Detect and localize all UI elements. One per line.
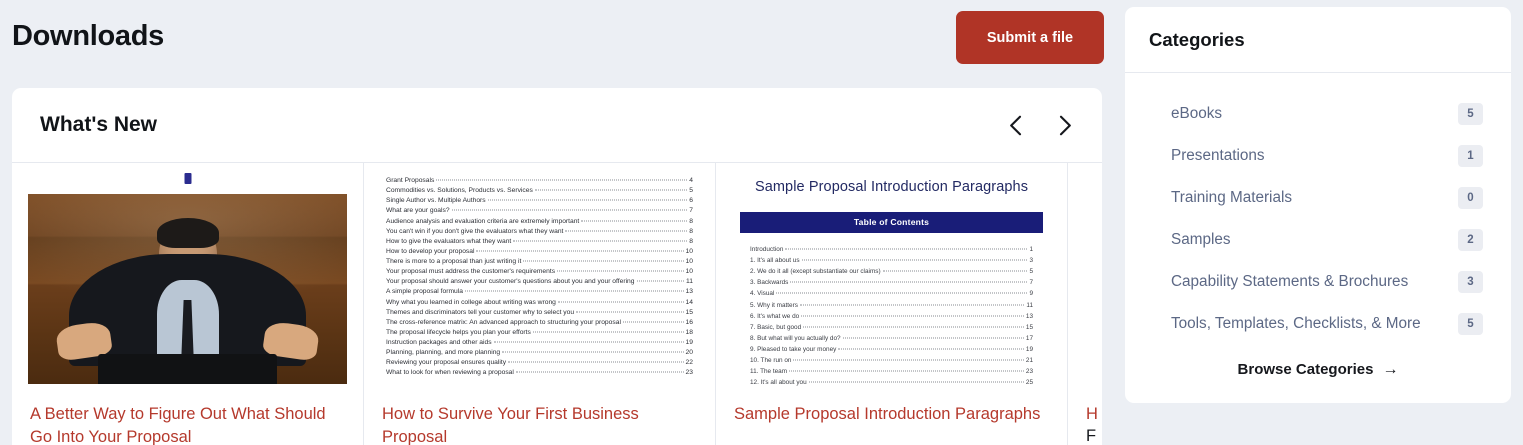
whats-new-panel: What's New (12, 88, 1102, 445)
toc-leader-dots (502, 352, 683, 353)
toc-entry-page: 19 (686, 339, 693, 346)
slide-marker-icon (184, 173, 191, 184)
toc-entry: 12. It's all about you25 (740, 380, 1043, 387)
toc-entry-page: 1 (1029, 247, 1033, 254)
toc-entry-text: 3. Backwards (750, 280, 788, 287)
toc-leader-dots (637, 281, 685, 282)
category-count-badge: 5 (1458, 103, 1483, 125)
category-label[interactable]: Training Materials (1171, 189, 1292, 207)
categories-title: Categories (1149, 29, 1245, 51)
toc-entry-page: 13 (1026, 314, 1033, 321)
toc-entry: What to look for when reviewing a propos… (386, 369, 693, 376)
toc-entry: How to give the evaluators what they wan… (386, 238, 693, 245)
toc-leader-dots (576, 311, 683, 312)
page-title: Downloads (12, 20, 164, 53)
toc-leader-dots (843, 337, 1024, 338)
toc-entry-text: How to develop your proposal (386, 248, 474, 255)
toc-entry: Planning, planning, and more planning20 (386, 349, 693, 356)
toc-entry-page: 10 (686, 268, 693, 275)
category-count-badge: 2 (1458, 229, 1483, 251)
toc-entry-page: 22 (686, 359, 693, 366)
toc-entry-page: 19 (1026, 347, 1033, 354)
category-row[interactable]: eBooks5 (1171, 93, 1483, 135)
categories-header: Categories (1125, 7, 1511, 73)
document-title: Sample Proposal Introduction Paragraphs (740, 179, 1043, 195)
toc-entry-page: 8 (689, 228, 693, 235)
toc-leader-dots (488, 200, 688, 201)
toc-entry: The cross-reference matrix: An advanced … (386, 319, 693, 326)
toc-entry-text: The cross-reference matrix: An advanced … (386, 319, 621, 326)
toc-document: Grant Proposals4Commodities vs. Solution… (380, 171, 699, 393)
toc-entry-text: 5. Why it matters (750, 303, 798, 310)
toc-entry-text: Why what you learned in college about wr… (386, 299, 556, 306)
category-label[interactable]: Capability Statements & Brochures (1171, 273, 1408, 291)
card-title[interactable]: A Better Way to Figure Out What Should G… (30, 403, 351, 445)
card-title[interactable]: H (1086, 403, 1098, 426)
category-label[interactable]: Tools, Templates, Checklists, & More (1171, 315, 1421, 333)
toc-entry: 8. But what will you actually do?17 (740, 336, 1043, 343)
toc-leader-dots (557, 271, 684, 272)
toc-entry: 3. Backwards7 (740, 280, 1043, 287)
toc-entry-text: 1. It's all about us (750, 258, 800, 265)
category-label[interactable]: Samples (1171, 231, 1231, 249)
toc-entry-text: Reviewing your proposal ensures quality (386, 359, 506, 366)
toc-leader-dots (802, 260, 1028, 261)
toc-leader-dots (494, 342, 684, 343)
toc-entry-page: 10 (686, 258, 693, 265)
toc-entry-page: 25 (1026, 380, 1033, 387)
toc-entry: A simple proposal formula13 (386, 288, 693, 295)
toc-entry-text: Audience analysis and evaluation criteri… (386, 218, 579, 225)
download-card-partial[interactable]: H F (1068, 163, 1102, 445)
category-row[interactable]: Capability Statements & Brochures3 (1171, 261, 1483, 303)
carousel-next-button[interactable] (1050, 111, 1080, 141)
toc-entry-text: 6. It's what we do (750, 314, 799, 321)
card-thumbnail-document: Sample Proposal Introduction Paragraphs … (732, 171, 1051, 393)
toc-entry-page: 17 (1026, 336, 1033, 343)
toc-entry: 7. Basic, but good15 (740, 325, 1043, 332)
toc-entry-page: 5 (689, 187, 693, 194)
browse-categories-link[interactable]: Browse Categories→ (1125, 361, 1511, 379)
toc-entry-page: 14 (686, 299, 693, 306)
toc-entry-text: What are your goals? (386, 207, 450, 214)
categories-list: eBooks5Presentations1Training Materials0… (1125, 73, 1511, 345)
photo-hair (157, 218, 219, 248)
toc-entry-text: A simple proposal formula (386, 288, 463, 295)
arrow-right-icon: → (1382, 361, 1398, 378)
toc-entry: There is more to a proposal than just wr… (386, 258, 693, 265)
toc-entry-page: 16 (686, 319, 693, 326)
carousel-nav (1000, 88, 1080, 163)
category-row[interactable]: Samples2 (1171, 219, 1483, 261)
toc-entry: How to develop your proposal10 (386, 248, 693, 255)
toc-entry-page: 23 (1026, 369, 1033, 376)
toc-entry-text: Instruction packages and other aids (386, 339, 492, 346)
toc-entry-text: 10. The run on (750, 358, 791, 365)
toc-leader-dots (623, 321, 684, 322)
download-card[interactable]: Grant Proposals4Commodities vs. Solution… (364, 163, 716, 445)
toc-entry-text: Your proposal must address the customer'… (386, 268, 555, 275)
toc-entry-page: 7 (1029, 280, 1033, 287)
toc-entry-page: 18 (686, 329, 693, 336)
toc-leader-dots (533, 331, 684, 332)
toc-leader-dots (809, 382, 1024, 383)
toc-entry: 1. It's all about us3 (740, 258, 1043, 265)
toc-entry-text: The proposal lifecycle helps you plan yo… (386, 329, 531, 336)
toc-leader-dots (465, 291, 684, 292)
toc-leader-dots (436, 180, 687, 181)
sample-proposal-document: Sample Proposal Introduction Paragraphs … (732, 171, 1051, 393)
toc-entry: 9. Pleased to take your money19 (740, 347, 1043, 354)
category-count-badge: 3 (1458, 271, 1483, 293)
category-count-badge: 1 (1458, 145, 1483, 167)
toc-entry: 2. We do it all (except substantiate our… (740, 269, 1043, 276)
toc-leader-dots (535, 190, 687, 191)
toc-entry: The proposal lifecycle helps you plan yo… (386, 329, 693, 336)
download-card[interactable]: A Better Way to Figure Out What Should G… (12, 163, 364, 445)
carousel-prev-button[interactable] (1000, 111, 1030, 141)
toc-entry: Themes and discriminators tell your cust… (386, 309, 693, 316)
toc-leader-dots (523, 261, 683, 262)
category-row[interactable]: Tools, Templates, Checklists, & More5 (1171, 303, 1483, 345)
toc-entry-text: 7. Basic, but good (750, 325, 801, 332)
toc-entry-text: 8. But what will you actually do? (750, 336, 841, 343)
downloads-page: Downloads Submit a file What's New (0, 0, 1523, 445)
toc-entry: Your proposal should answer your custome… (386, 278, 693, 285)
card-thumbnail-photo (28, 171, 347, 393)
toc-entry: 5. Why it matters11 (740, 303, 1043, 310)
toc-entry: 4. Visual9 (740, 291, 1043, 298)
toc-entry-page: 15 (1026, 325, 1033, 332)
toc-entry: Introduction1 (740, 247, 1043, 254)
toc-entry-page: 6 (689, 197, 693, 204)
table-of-contents-bar: Table of Contents (740, 212, 1043, 233)
toc-entry: What are your goals?7 (386, 207, 693, 214)
toc-entry: Instruction packages and other aids19 (386, 339, 693, 346)
browse-categories-label: Browse Categories (1238, 361, 1374, 378)
toc-entry-page: 13 (686, 288, 693, 295)
toc-entry-text: 4. Visual (750, 291, 774, 298)
toc-leader-dots (793, 360, 1023, 361)
toc-leader-dots (801, 315, 1024, 316)
toc-entry-text: 2. We do it all (except substantiate our… (750, 269, 881, 276)
category-count-badge: 0 (1458, 187, 1483, 209)
toc-entry-text: Planning, planning, and more planning (386, 349, 500, 356)
toc-list: Introduction11. It's all about us32. We … (740, 247, 1043, 387)
toc-entry: Your proposal must address the customer'… (386, 268, 693, 275)
toc-entry: Reviewing your proposal ensures quality2… (386, 359, 693, 366)
toc-leader-dots (516, 372, 684, 373)
toc-leader-dots (508, 362, 683, 363)
toc-entry: 10. The run on21 (740, 358, 1043, 365)
toc-entry-page: 10 (686, 248, 693, 255)
toc-leader-dots (883, 271, 1028, 272)
toc-entry-text: Your proposal should answer your custome… (386, 278, 635, 285)
toc-leader-dots (838, 348, 1024, 349)
toc-entry-text: Introduction (750, 247, 783, 254)
toc-leader-dots (581, 220, 687, 221)
toc-leader-dots (565, 230, 687, 231)
card-subtitle: F (1086, 427, 1096, 445)
categories-panel: Categories eBooks5Presentations1Training… (1125, 7, 1511, 403)
toc-entry-page: 15 (686, 309, 693, 316)
photo-laptop (98, 354, 277, 384)
chevron-left-icon (1009, 115, 1022, 136)
toc-entry-text: You can't win if you don't give the eval… (386, 228, 563, 235)
toc-entry-page: 11 (1026, 303, 1033, 310)
toc-entry-text: Commodities vs. Solutions, Products vs. … (386, 187, 533, 194)
toc-entry-text: 9. Pleased to take your money (750, 347, 836, 354)
toc-entry-page: 8 (689, 238, 693, 245)
toc-entry-text: 11. The team (750, 369, 787, 376)
whats-new-header: What's New (12, 88, 1102, 163)
toc-entry: Commodities vs. Solutions, Products vs. … (386, 187, 693, 194)
toc-leader-dots (558, 301, 684, 302)
card-title[interactable]: Sample Proposal Introduction Paragraphs (734, 403, 1055, 426)
toc-leader-dots (800, 304, 1024, 305)
toc-entry: Grant Proposals4 (386, 177, 693, 184)
card-thumbnail-toc: Grant Proposals4Commodities vs. Solution… (380, 171, 699, 393)
toc-entry: Why what you learned in college about wr… (386, 299, 693, 306)
toc-entry-page: 3 (1029, 258, 1033, 265)
toc-leader-dots (476, 250, 683, 251)
category-label[interactable]: eBooks (1171, 105, 1222, 123)
toc-entry-text: How to give the evaluators what they wan… (386, 238, 511, 245)
category-row[interactable]: Training Materials0 (1171, 177, 1483, 219)
card-title[interactable]: How to Survive Your First Business Propo… (382, 403, 703, 445)
category-label[interactable]: Presentations (1171, 147, 1265, 165)
toc-entry-page: 5 (1029, 269, 1033, 276)
category-count-badge: 5 (1458, 313, 1483, 335)
toc-entry-text: Grant Proposals (386, 177, 434, 184)
toc-entry-text: Single Author vs. Multiple Authors (386, 197, 486, 204)
whats-new-carousel[interactable]: A Better Way to Figure Out What Should G… (12, 163, 1102, 445)
toc-entry-page: 21 (1026, 358, 1033, 365)
toc-entry-page: 9 (1029, 291, 1033, 298)
toc-entry-text: Themes and discriminators tell your cust… (386, 309, 574, 316)
toc-leader-dots (513, 240, 687, 241)
toc-entry-page: 23 (686, 369, 693, 376)
toc-entry-text: What to look for when reviewing a propos… (386, 369, 514, 376)
chevron-right-icon (1059, 115, 1072, 136)
toc-leader-dots (790, 282, 1027, 283)
toc-leader-dots (789, 371, 1024, 372)
toc-entry-page: 11 (686, 278, 693, 285)
category-row[interactable]: Presentations1 (1171, 135, 1483, 177)
toc-entry-page: 7 (689, 207, 693, 214)
toc-entry-page: 8 (689, 218, 693, 225)
whats-new-title: What's New (40, 113, 157, 137)
toc-entry: Audience analysis and evaluation criteri… (386, 218, 693, 225)
toc-entry: Single Author vs. Multiple Authors6 (386, 197, 693, 204)
presenter-photo (28, 194, 347, 384)
toc-entry-text: There is more to a proposal than just wr… (386, 258, 521, 265)
submit-a-file-button[interactable]: Submit a file (956, 11, 1104, 64)
toc-leader-dots (776, 293, 1027, 294)
toc-leader-dots (803, 326, 1024, 327)
toc-entry-page: 20 (686, 349, 693, 356)
toc-entry-text: 12. It's all about you (750, 380, 807, 387)
toc-entry: 6. It's what we do13 (740, 314, 1043, 321)
toc-leader-dots (452, 210, 688, 211)
toc-entry: 11. The team23 (740, 369, 1043, 376)
toc-entry: You can't win if you don't give the eval… (386, 228, 693, 235)
toc-leader-dots (785, 249, 1027, 250)
toc-entry-page: 4 (689, 177, 693, 184)
download-card[interactable]: Sample Proposal Introduction Paragraphs … (716, 163, 1068, 445)
